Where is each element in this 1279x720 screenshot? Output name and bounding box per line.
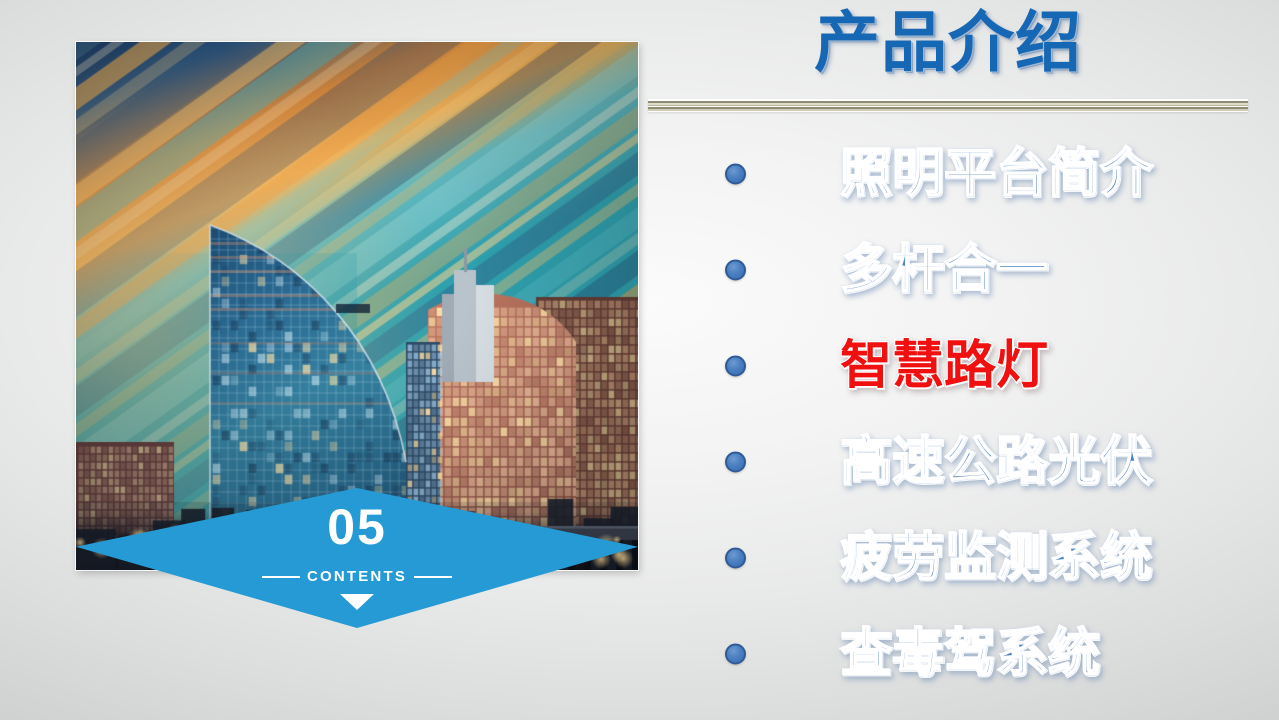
list-item-label: 照明平台简介 bbox=[840, 148, 1152, 200]
presentation-slide: 05 CONTENTS 产品介绍 照明平台简介 多杆合一 智慧路灯 高速公路光伏 bbox=[0, 0, 1279, 720]
contents-bullet-list: 照明平台简介 多杆合一 智慧路灯 高速公路光伏 疲劳监测系统 查毒驾系统 bbox=[648, 126, 1260, 702]
bullet-dot-icon bbox=[725, 260, 746, 281]
list-item-label: 高速公路光伏 bbox=[840, 436, 1152, 488]
title-underline-rule bbox=[648, 99, 1248, 112]
list-item[interactable]: 多杆合一 bbox=[648, 222, 1260, 318]
bullet-dot-icon bbox=[725, 644, 746, 665]
slide-title: 产品介绍 bbox=[648, 6, 1248, 80]
bullet-dot-icon bbox=[725, 164, 746, 185]
list-item[interactable]: 疲劳监测系统 bbox=[648, 510, 1260, 606]
bullet-dot-icon bbox=[725, 356, 746, 377]
list-item-label: 疲劳监测系统 bbox=[840, 532, 1152, 584]
list-item[interactable]: 智慧路灯 bbox=[648, 318, 1260, 414]
bullet-dot-icon bbox=[725, 452, 746, 473]
list-item-label-highlighted: 智慧路灯 bbox=[840, 340, 1048, 392]
list-item-label: 查毒驾系统 bbox=[840, 628, 1100, 680]
list-item[interactable]: 高速公路光伏 bbox=[648, 414, 1260, 510]
list-item[interactable]: 查毒驾系统 bbox=[648, 606, 1260, 702]
bullet-dot-icon bbox=[725, 548, 746, 569]
list-item-label: 多杆合一 bbox=[840, 244, 1048, 296]
list-item[interactable]: 照明平台简介 bbox=[648, 126, 1260, 222]
